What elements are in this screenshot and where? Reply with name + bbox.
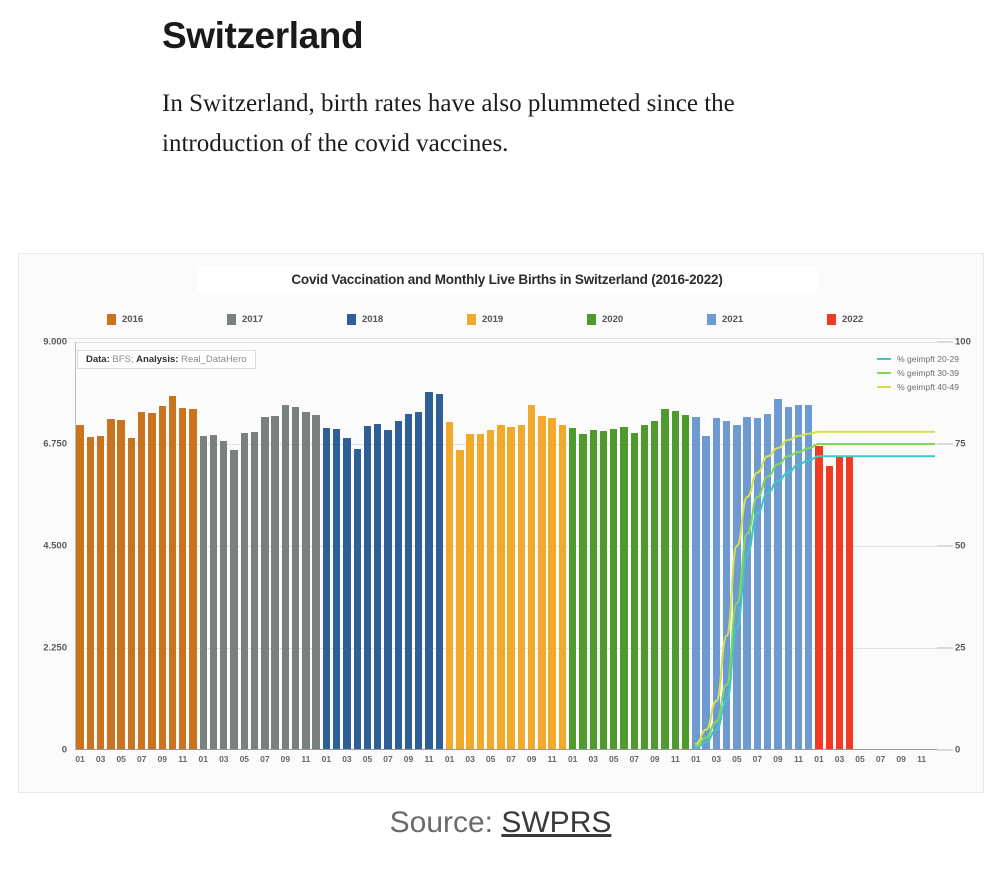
x-axis-tick-label: 05: [116, 754, 125, 764]
x-axis-tick-label: 07: [753, 754, 762, 764]
legend-item-2019[interactable]: 2019: [467, 314, 503, 325]
x-axis-tick-label: 01: [691, 754, 700, 764]
article-page: Switzerland In Switzerland, birth rates …: [0, 0, 1001, 872]
x-axis-line: [75, 749, 937, 750]
legend-item-label: 2016: [122, 314, 143, 325]
x-axis-tick-label: 11: [671, 754, 680, 764]
x-axis-tick-label: 07: [137, 754, 146, 764]
legend-item-2016[interactable]: 2016: [107, 314, 143, 325]
y-axis-tick-dash-right: [937, 750, 953, 751]
legend-item-2020[interactable]: 2020: [587, 314, 623, 325]
x-axis-tick-label: 07: [506, 754, 515, 764]
x-axis-tick-label: 01: [445, 754, 454, 764]
source-caption: Source: SWPRS: [0, 806, 1001, 840]
y-axis-tick-left: 4.500: [43, 541, 67, 552]
y-axis-tick-left: 6.750: [43, 439, 67, 450]
x-axis-tick-label: 09: [527, 754, 536, 764]
x-axis-tick-label: 11: [917, 754, 926, 764]
x-axis-tick-label: 01: [568, 754, 577, 764]
x-axis-tick-label: 11: [301, 754, 310, 764]
y-axis-tick-left: 0: [62, 745, 67, 756]
x-axis-tick-label: 07: [876, 754, 885, 764]
x-axis-tick-label: 11: [178, 754, 187, 764]
chart-legend-years: 2016201720182019202020212022: [107, 314, 947, 334]
legend-swatch-icon: [227, 314, 236, 325]
x-axis-tick-label: 05: [363, 754, 372, 764]
y-axis-tick-right: 0: [955, 745, 960, 756]
legend-swatch-icon: [707, 314, 716, 325]
legend-item-label: 2020: [602, 314, 623, 325]
x-axis-tick-label: 03: [465, 754, 474, 764]
x-axis-tick-label: 11: [548, 754, 557, 764]
legend-item-label: 2018: [362, 314, 383, 325]
legend-swatch-icon: [347, 314, 356, 325]
x-axis-tick-label: 03: [219, 754, 228, 764]
y-axis-tick-dash-right: [937, 342, 953, 343]
x-axis-tick-label: 03: [96, 754, 105, 764]
legend-item-label: 2019: [482, 314, 503, 325]
legend-divider: [49, 338, 963, 339]
source-link[interactable]: SWPRS: [501, 806, 611, 839]
x-axis-tick-label: 09: [404, 754, 413, 764]
vaccination-line: [696, 444, 850, 746]
legend-item-2018[interactable]: 2018: [347, 314, 383, 325]
x-axis-tick-label: 03: [712, 754, 721, 764]
legend-swatch-icon: [467, 314, 476, 325]
x-axis-tick-label: 01: [322, 754, 331, 764]
page-title: Switzerland: [162, 14, 1001, 58]
x-axis-tick-label: 03: [588, 754, 597, 764]
x-axis-tick-label: 07: [383, 754, 392, 764]
x-axis-tick-label: 09: [650, 754, 659, 764]
x-axis-tick-label: 03: [835, 754, 844, 764]
x-axis-tick-label: 01: [199, 754, 208, 764]
x-axis-tick-label: 05: [240, 754, 249, 764]
x-axis-tick-label: 05: [609, 754, 618, 764]
vaccination-line: [696, 456, 850, 748]
y-axis-tick-right: 100: [955, 337, 971, 348]
x-axis-tick-label: 11: [794, 754, 803, 764]
legend-item-label: 2022: [842, 314, 863, 325]
x-axis-tick-label: 07: [260, 754, 269, 764]
x-axis-tick-label: 05: [855, 754, 864, 764]
x-axis-tick-label: 09: [896, 754, 905, 764]
chart-vaccination-lines: [75, 342, 937, 750]
x-axis-tick-label: 09: [157, 754, 166, 764]
legend-item-2017[interactable]: 2017: [227, 314, 263, 325]
chart-x-axis-labels: 0103050709110103050709110103050709110103…: [75, 754, 937, 776]
x-axis-tick-label: 09: [773, 754, 782, 764]
vaccination-line: [696, 432, 850, 744]
y-axis-tick-left: 9.000: [43, 337, 67, 348]
source-label: Source:: [390, 806, 502, 839]
chart-title-banner: Covid Vaccination and Monthly Live Birth…: [197, 266, 817, 292]
legend-swatch-icon: [107, 314, 116, 325]
x-axis-tick-label: 01: [75, 754, 84, 764]
legend-swatch-icon: [827, 314, 836, 325]
chart-plot-area: 02.2504.5006.7509.0000255075100: [75, 342, 937, 750]
legend-item-2021[interactable]: 2021: [707, 314, 743, 325]
x-axis-tick-label: 03: [342, 754, 351, 764]
chart-title: Covid Vaccination and Monthly Live Birth…: [291, 272, 722, 287]
x-axis-tick-label: 05: [486, 754, 495, 764]
y-axis-tick-dash-right: [937, 444, 953, 445]
legend-item-label: 2021: [722, 314, 743, 325]
article-header: Switzerland In Switzerland, birth rates …: [0, 0, 1001, 164]
y-axis-line: [75, 342, 76, 750]
y-axis-tick-dash-right: [937, 546, 953, 547]
x-axis-tick-label: 09: [281, 754, 290, 764]
x-axis-tick-label: 07: [630, 754, 639, 764]
y-axis-tick-right: 50: [955, 541, 966, 552]
article-paragraph: In Switzerland, birth rates have also pl…: [162, 84, 782, 164]
y-axis-tick-right: 75: [955, 439, 966, 450]
legend-item-label: 2017: [242, 314, 263, 325]
x-axis-tick-label: 05: [732, 754, 741, 764]
chart-figure: Covid Vaccination and Monthly Live Birth…: [18, 253, 984, 793]
legend-swatch-icon: [587, 314, 596, 325]
y-axis-tick-dash-right: [937, 648, 953, 649]
x-axis-tick-label: 11: [425, 754, 434, 764]
y-axis-tick-left: 2.250: [43, 643, 67, 654]
x-axis-tick-label: 01: [814, 754, 823, 764]
y-axis-tick-right: 25: [955, 643, 966, 654]
legend-item-2022[interactable]: 2022: [827, 314, 863, 325]
